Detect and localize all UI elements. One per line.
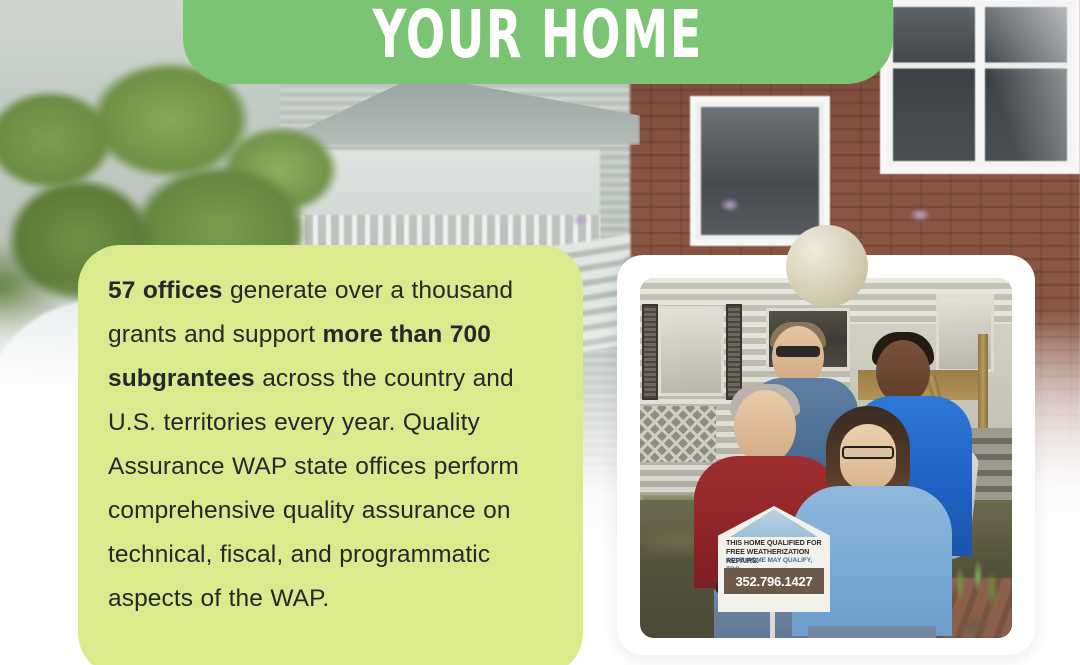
- yard-sign-phone-number: 352.796.1427: [735, 574, 812, 589]
- family-photo: THIS HOME QUALIFIED FOR FREE WEATHERIZAT…: [640, 278, 1012, 638]
- photo-window-left: [658, 306, 724, 396]
- page-title: YOUR HOME: [373, 2, 703, 68]
- slide-root: YOUR HOME 57 offices generate over a tho…: [0, 0, 1080, 665]
- circle-accent-decoration: [786, 225, 868, 307]
- yard-sign: THIS HOME QUALIFIED FOR FREE WEATHERIZAT…: [718, 506, 830, 612]
- stat-offices: 57 offices: [108, 277, 223, 304]
- stats-plain-text-2: across the country and U.S. territories …: [108, 365, 519, 612]
- sunglasses-icon: [776, 346, 820, 357]
- photo-shutter-left-a: [642, 304, 658, 400]
- photo-person-jeans: [808, 626, 936, 638]
- stats-paragraph: 57 offices generate over a thousand gran…: [108, 269, 553, 621]
- yard-sign-phone-bar: 352.796.1427: [724, 568, 824, 594]
- title-banner: YOUR HOME: [183, 0, 893, 84]
- photo-person-head: [734, 390, 796, 464]
- photo-card: THIS HOME QUALIFIED FOR FREE WEATHERIZAT…: [617, 255, 1035, 655]
- photo-shutter-left-b: [726, 304, 742, 400]
- stats-text-card: 57 offices generate over a thousand gran…: [78, 245, 583, 665]
- photo-person-head: [876, 340, 930, 404]
- eyeglasses-icon: [842, 446, 894, 459]
